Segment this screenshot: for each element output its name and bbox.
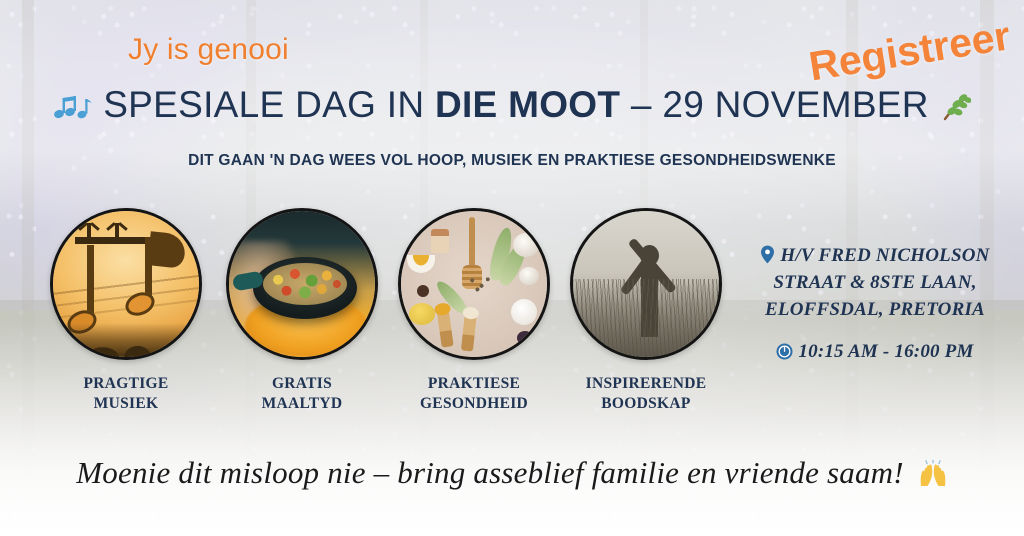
invitation-kicker: Jy is genooi xyxy=(128,33,289,67)
raised-hands-icon xyxy=(918,460,948,488)
event-time-text: 10:15 AM - 16:00 PM xyxy=(798,341,973,362)
feature-item-meal: GRATIS MAALTYD xyxy=(222,208,382,414)
feature-caption-line2: MUSIEK xyxy=(46,394,206,414)
feature-caption-line1: GRATIS xyxy=(222,374,382,394)
event-subheadline: DIT GAAN 'N DAG WEES VOL HOOP, MUSIEK EN… xyxy=(0,152,1024,170)
herb-sprig-icon xyxy=(939,89,971,119)
meal-bowl-photo xyxy=(226,208,378,360)
natural-remedies-photo xyxy=(398,208,550,360)
venue-address-line2: STRAAT & 8STE LAAN, xyxy=(736,270,1014,297)
event-details: H/V FRED NICHOLSON STRAAT & 8STE LAAN, E… xyxy=(736,243,1014,363)
feature-caption-line1: PRAKTIESE xyxy=(394,374,554,394)
event-headline: SPESIALE DAG IN DIE MOOT – 29 NOVEMBER xyxy=(0,84,1024,126)
feature-item-message: INSPIRERENDE BOODSKAP xyxy=(566,208,726,414)
feature-item-music: PRAGTIGE MUSIEK xyxy=(46,208,206,414)
feature-caption: PRAKTIESE GESONDHEID xyxy=(394,374,554,414)
venue-address-line1: H/V FRED NICHOLSON xyxy=(780,245,989,266)
venue-address: H/V FRED NICHOLSON STRAAT & 8STE LAAN, E… xyxy=(736,243,1014,324)
feature-caption: PRAGTIGE MUSIEK xyxy=(46,374,206,414)
feature-caption-line2: GESONDHEID xyxy=(394,394,554,414)
headline-text-strong: DIE MOOT xyxy=(435,84,620,125)
event-time: 10:15 AM - 16:00 PM xyxy=(736,341,1014,363)
feature-list: PRAGTIGE MUSIEK GRATIS MAALTYD xyxy=(46,208,746,408)
feature-caption: INSPIRERENDE BOODSKAP xyxy=(566,374,726,414)
register-button[interactable]: Registreer xyxy=(806,12,1014,90)
venue-address-line3: ELOFFSDAL, PRETORIA xyxy=(736,297,1014,324)
feature-caption-line1: PRAGTIGE xyxy=(46,374,206,394)
banner-content: Jy is genooi Registreer S xyxy=(0,0,1024,536)
feature-caption-line1: INSPIRERENDE xyxy=(566,374,726,394)
event-banner: Jy is genooi Registreer S xyxy=(0,0,1024,536)
headline-text-post: – 29 NOVEMBER xyxy=(620,84,939,125)
feature-caption: GRATIS MAALTYD xyxy=(222,374,382,414)
feature-item-health: PRAKTIESE GESONDHEID xyxy=(394,208,554,414)
closing-tagline: Moenie dit misloop nie – bring asseblief… xyxy=(0,455,1024,491)
feature-caption-line2: BOODSKAP xyxy=(566,394,726,414)
clock-icon xyxy=(776,343,793,360)
person-in-field-photo xyxy=(570,208,722,360)
closing-tagline-text: Moenie dit misloop nie – bring asseblief… xyxy=(76,455,903,490)
location-pin-icon xyxy=(760,245,775,264)
music-notes-photo xyxy=(50,208,202,360)
feature-caption-line2: MAALTYD xyxy=(222,394,382,414)
headline-text-pre: SPESIALE DAG IN xyxy=(103,84,435,125)
musical-notes-icon xyxy=(53,89,93,119)
